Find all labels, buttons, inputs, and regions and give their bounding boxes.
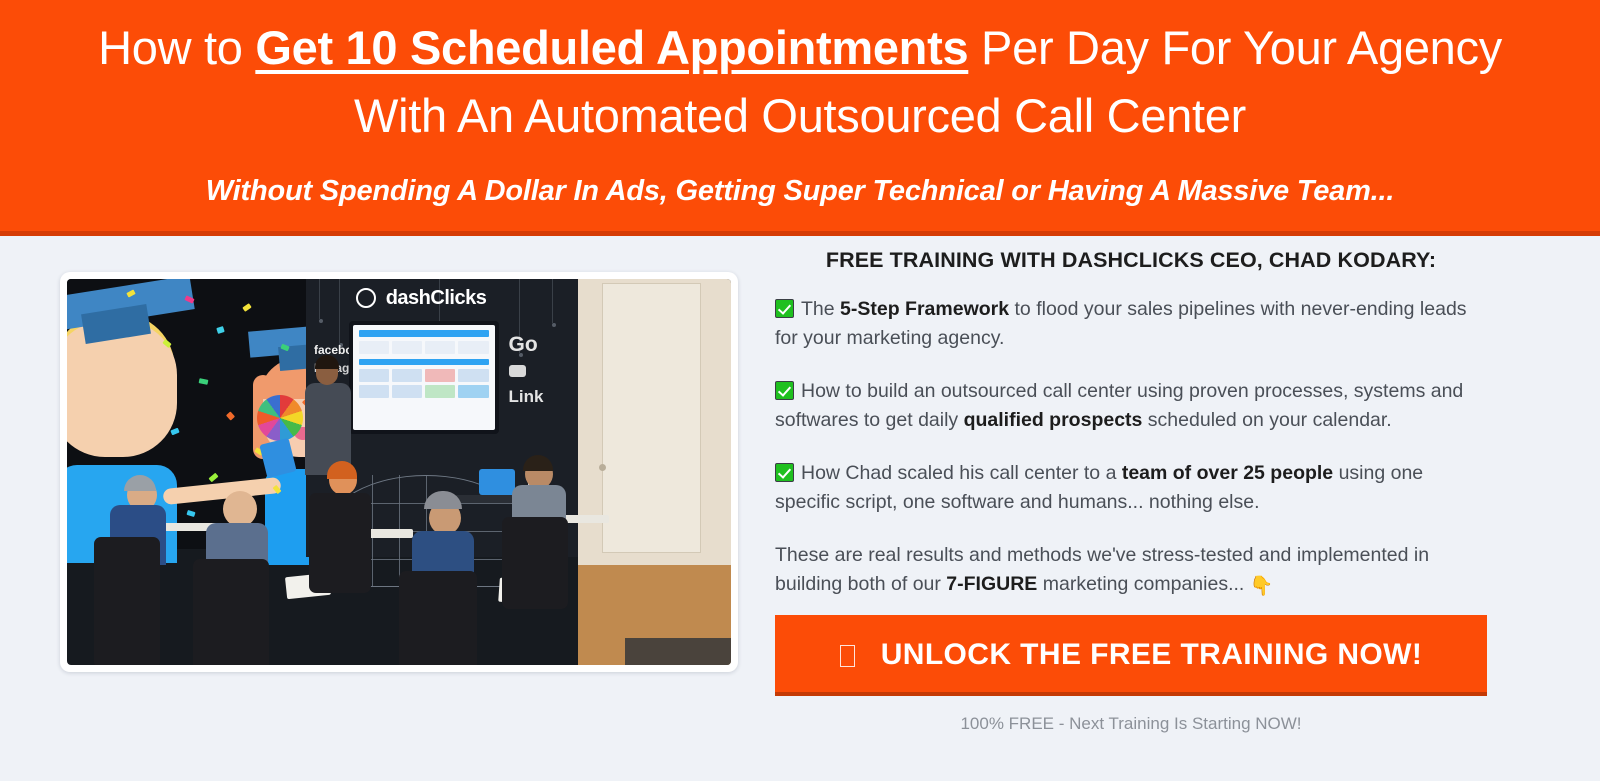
headline-highlight: Get 10 Scheduled Appointments bbox=[255, 21, 968, 74]
mural-boy-face bbox=[67, 321, 177, 457]
audience-head bbox=[223, 491, 257, 527]
benefit-bullet-3: How Chad scaled his call center to a tea… bbox=[775, 459, 1487, 517]
missing-glyph-icon bbox=[840, 645, 855, 667]
screen-tile bbox=[425, 385, 455, 398]
audience-chair bbox=[399, 571, 477, 665]
screen-tile bbox=[458, 369, 488, 382]
dashclicks-mark-icon bbox=[356, 288, 376, 308]
wall-wire bbox=[319, 279, 320, 319]
training-photo-card: dashClicks facebook Instagram Go Link bbox=[60, 272, 738, 672]
screen-tile bbox=[392, 369, 422, 382]
screen-section-bar bbox=[359, 359, 488, 365]
green-check-icon bbox=[775, 463, 794, 482]
wall-wire bbox=[552, 279, 553, 323]
screen-tile bbox=[359, 369, 389, 382]
closing-paragraph: These are real results and methods we've… bbox=[775, 541, 1487, 601]
bullet-2-bold: qualified prospects bbox=[964, 409, 1143, 431]
closing-bold: 7-FIGURE bbox=[946, 573, 1037, 595]
screen-tile bbox=[458, 341, 488, 354]
screen-content bbox=[353, 325, 494, 430]
headline-pre: How to bbox=[98, 21, 255, 74]
bullet-1-pre: The bbox=[801, 298, 840, 320]
screen-tile bbox=[359, 341, 389, 354]
screen-tile bbox=[425, 369, 455, 382]
closing-post: marketing companies... bbox=[1037, 573, 1249, 595]
offer-copy: FREE TRAINING WITH DASHCLICKS CEO, CHAD … bbox=[775, 248, 1487, 734]
hero-banner: How to Get 10 Scheduled Appointments Per… bbox=[0, 0, 1600, 236]
cta-label: UNLOCK THE FREE TRAINING NOW! bbox=[881, 638, 1423, 671]
screen-card-row bbox=[359, 369, 488, 382]
wall-wire-dot bbox=[552, 323, 556, 327]
branded-cooler bbox=[479, 469, 515, 495]
bullet-1-bold: 5-Step Framework bbox=[840, 298, 1009, 320]
audience-chair bbox=[94, 537, 160, 665]
dashclicks-logo: dashClicks bbox=[386, 287, 487, 310]
benefit-bullet-2: How to build an outsourced call center u… bbox=[775, 377, 1487, 435]
screen-tile bbox=[392, 341, 422, 354]
screen-tile bbox=[458, 385, 488, 398]
door bbox=[602, 283, 702, 553]
audience-chair bbox=[502, 517, 568, 609]
training-photo: dashClicks facebook Instagram Go Link bbox=[67, 279, 731, 665]
copy-title: FREE TRAINING WITH DASHCLICKS CEO, CHAD … bbox=[775, 248, 1487, 273]
cta-note: 100% FREE - Next Training Is Starting NO… bbox=[775, 714, 1487, 734]
wall-wire bbox=[339, 279, 340, 343]
bullet-3-bold: team of over 25 people bbox=[1122, 462, 1333, 484]
benefit-bullet-1: The 5-Step Framework to flood your sales… bbox=[775, 295, 1487, 353]
presentation-screen bbox=[349, 321, 498, 434]
audience-chair bbox=[309, 493, 371, 593]
bullet-3-pre: How Chad scaled his call center to a bbox=[801, 462, 1122, 484]
page-title: How to Get 10 Scheduled Appointments Per… bbox=[90, 14, 1510, 150]
green-check-icon bbox=[775, 299, 794, 318]
green-check-icon bbox=[775, 381, 794, 400]
screen-header-bar bbox=[359, 330, 488, 337]
prize-wheel-graphic bbox=[257, 395, 303, 441]
wall-text-linkedin: Link bbox=[509, 387, 544, 407]
screen-tile bbox=[359, 385, 389, 398]
audience-chair bbox=[193, 559, 269, 665]
hero-subheadline: Without Spending A Dollar In Ads, Gettin… bbox=[0, 172, 1600, 210]
pointing-down-hand-icon: 👇 bbox=[1250, 576, 1274, 597]
youtube-icon bbox=[509, 365, 526, 377]
screen-tile bbox=[392, 385, 422, 398]
screen-card-row bbox=[359, 385, 488, 398]
main-content: dashClicks facebook Instagram Go Link bbox=[0, 236, 1600, 776]
screen-icon-row bbox=[359, 341, 488, 354]
unlock-free-training-button[interactable]: UNLOCK THE FREE TRAINING NOW! bbox=[775, 615, 1487, 696]
screen-tile bbox=[425, 341, 455, 354]
bullet-2-post: scheduled on your calendar. bbox=[1142, 409, 1391, 431]
wall-text-google: Go bbox=[509, 333, 538, 357]
rug bbox=[625, 638, 731, 665]
